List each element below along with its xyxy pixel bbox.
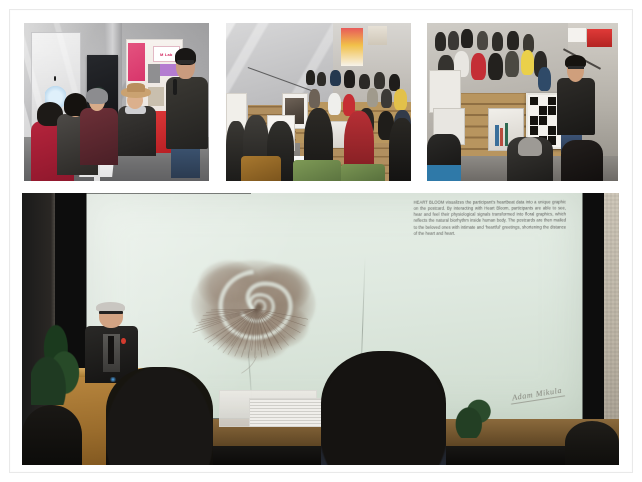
slide-body-text: HEART BLOOM visualizes the participant's… <box>413 199 565 237</box>
standing-person <box>330 70 341 86</box>
standing-person <box>374 72 385 89</box>
photo-lecture-hall-heart-bloom-presentation[interactable]: HEART BLOOM visualizes the participant's… <box>22 193 619 465</box>
seated-person <box>492 32 503 51</box>
seated-person <box>477 31 488 50</box>
standing-person <box>317 72 326 86</box>
blue-indicator-light <box>109 377 117 382</box>
red-wall-sign <box>587 29 612 46</box>
seated-person <box>507 31 518 50</box>
photo-gallery-talk-woman-with-microphone[interactable]: M Lab <box>24 23 209 181</box>
standing-person <box>306 70 315 84</box>
green-chair <box>293 160 341 181</box>
audience-head-left <box>106 367 213 465</box>
presenter-holding-panel <box>557 55 595 153</box>
standing-person <box>344 70 355 87</box>
seated-person <box>394 89 407 110</box>
seated-person <box>461 29 472 48</box>
foreground-person-gray-hair <box>507 137 553 181</box>
hanging-banner-2 <box>368 26 387 45</box>
foreground-person-blue <box>427 134 461 181</box>
wooden-chair <box>241 156 282 181</box>
seated-person-yellow <box>521 50 534 75</box>
seated-visitor-with-hat <box>117 83 158 156</box>
seated-person <box>538 67 551 91</box>
slide-signature: Adam Mikula <box>511 386 562 403</box>
seated-person <box>367 88 378 107</box>
standing-person <box>389 74 400 91</box>
speaker-with-microphone <box>165 48 209 178</box>
white-wall-sign <box>568 28 585 42</box>
poster-photo-1 <box>148 64 160 82</box>
seated-person <box>448 31 459 50</box>
photo-audience-on-wooden-steps[interactable] <box>226 23 411 181</box>
foreground-person <box>389 118 411 181</box>
stand-dot <box>54 76 56 81</box>
audience-head-right-edge <box>565 421 619 465</box>
hanging-banner <box>341 28 363 66</box>
seated-person <box>505 51 518 76</box>
speaker-glasses <box>99 311 123 314</box>
heart-bloom-rose-graphic <box>145 238 362 374</box>
foreground-person <box>561 140 603 181</box>
potted-plant-right <box>452 392 494 438</box>
seated-person <box>381 89 392 108</box>
photo-presenter-holding-artwork-panel[interactable] <box>427 23 618 181</box>
seated-person-red-coat <box>471 53 486 80</box>
display-cabinet <box>429 70 462 113</box>
photo-collage: M Lab <box>0 0 642 482</box>
seated-person <box>435 32 446 51</box>
green-chair-2 <box>341 164 385 181</box>
audience-head-center <box>321 351 446 465</box>
seated-person-white-coat <box>328 93 341 115</box>
audience-head-left-edge <box>22 405 82 465</box>
standing-person <box>359 74 370 90</box>
potted-plant-left <box>31 324 85 406</box>
seated-elder-visitor <box>80 86 119 165</box>
seated-person <box>309 89 320 108</box>
seated-person <box>488 53 503 80</box>
poster-pink-panel <box>128 43 145 81</box>
